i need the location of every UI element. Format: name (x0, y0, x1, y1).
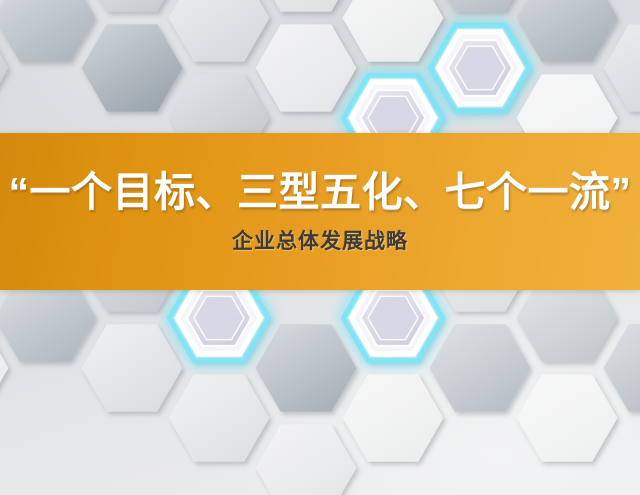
hexagon-tile (256, 0, 357, 12)
hexagon-tile (604, 324, 640, 411)
hexagon-tile (604, 24, 640, 111)
hexagon-tile (517, 374, 618, 461)
presentation-slide: “一个目标、三型五化、七个一流” 企业总体发展战略 (0, 0, 640, 495)
hexagon-tile (517, 0, 618, 62)
title-banner: “一个目标、三型五化、七个一流” 企业总体发展战略 (0, 133, 640, 290)
banner-title: “一个目标、三型五化、七个一流” (9, 172, 632, 213)
hexagon-tile (169, 374, 270, 461)
hexagon-tile (0, 0, 95, 62)
hexagon-tile (430, 0, 531, 12)
banner-subtitle: 企业总体发展战略 (232, 231, 408, 252)
hexagon-tile (82, 0, 183, 12)
hexagon-tile (343, 0, 444, 62)
hexagon-tile (343, 374, 444, 461)
hexagon-tile (82, 324, 183, 411)
hexagon-tile (82, 24, 183, 111)
hexagon-glow-tile (431, 25, 530, 111)
hexagon-tile (430, 324, 531, 411)
hexagon-tile (256, 324, 357, 411)
hexagon-tile (256, 24, 357, 111)
hexagon-tile (169, 0, 270, 62)
hexagon-tile (256, 424, 357, 495)
